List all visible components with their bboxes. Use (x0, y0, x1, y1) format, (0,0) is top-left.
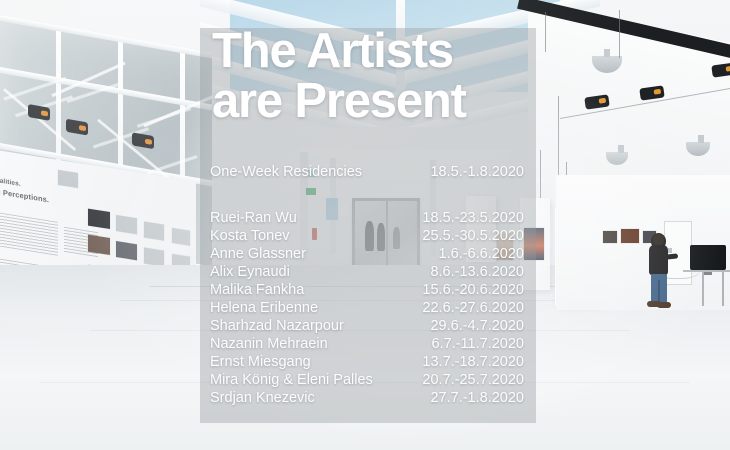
table-leg-2 (722, 272, 724, 306)
residency-date-range: 22.6.-27.6.2020 (422, 299, 524, 317)
residency-list-header: One-Week Residencies 18.5.-1.8.2020 (210, 163, 524, 181)
residency-artist-name: Anne Glassner (210, 245, 306, 263)
residency-row: Nazanin Mehraein6.7.-11.7.2020 (210, 335, 524, 353)
residency-artist-name: Sharhzad Nazarpour (210, 317, 344, 335)
residency-row: Anne Glassner1.6.-6.6.2020 (210, 245, 524, 263)
residency-row: Alix Eynaudi8.6.-13.6.2020 (210, 263, 524, 281)
residency-date-range: 18.5.-23.5.2020 (422, 209, 524, 227)
framed-photo-1 (603, 231, 617, 243)
residency-row: Malika Fankha15.6.-20.6.2020 (210, 281, 524, 299)
residency-row: Mira König & Eleni Palles20.7.-25.7.2020 (210, 371, 524, 389)
table-leg-1 (702, 272, 704, 306)
residency-list: One-Week Residencies 18.5.-1.8.2020 Ruei… (210, 163, 524, 407)
visitor-figure (642, 234, 682, 310)
spotlight-3 (711, 62, 730, 77)
residency-artist-name: Nazanin Mehraein (210, 335, 328, 353)
residency-artist-name: Ruei-Ran Wu (210, 209, 297, 227)
residency-artist-name: Helena Eribenne (210, 299, 318, 317)
residency-row: Sharhzad Nazarpour29.6.-4.7.2020 (210, 317, 524, 335)
residency-row: Ernst Miesgang13.7.-18.7.2020 (210, 353, 524, 371)
residency-date-range: 6.7.-11.7.2020 (432, 335, 524, 353)
residency-date-range: 8.6.-13.6.2020 (430, 263, 524, 281)
residency-artist-name: Ernst Miesgang (210, 353, 311, 371)
title-line-1: The Artists (212, 26, 542, 76)
residency-artist-name: Mira König & Eleni Palles (210, 371, 373, 389)
page-title: The Artists are Present (212, 26, 542, 126)
residency-date-range: 20.7.-25.7.2020 (422, 371, 524, 389)
framed-photo-2 (621, 229, 639, 243)
hanging-wire-2 (619, 10, 620, 58)
residency-header-dates: 18.5.-1.8.2020 (430, 163, 524, 181)
residency-row: Ruei-Ran Wu18.5.-23.5.2020 (210, 209, 524, 227)
residency-rows: Ruei-Ran Wu18.5.-23.5.2020Kosta Tonev25.… (210, 209, 524, 407)
residency-date-range: 15.6.-20.6.2020 (422, 281, 524, 299)
residency-artist-name: Srdjan Knezevic (210, 389, 315, 407)
title-line-2: are Present (212, 76, 542, 126)
residency-row: Srdjan Knezevic27.7.-1.8.2020 (210, 389, 524, 407)
residency-date-range: 25.5.-30.5.2020 (422, 227, 524, 245)
residency-artist-name: Alix Eynaudi (210, 263, 290, 281)
residency-row: Helena Eribenne22.6.-27.6.2020 (210, 299, 524, 317)
residency-header-label: One-Week Residencies (210, 163, 362, 181)
residency-date-range: 13.7.-18.7.2020 (422, 353, 524, 371)
residency-artist-name: Malika Fankha (210, 281, 304, 299)
residency-row: Kosta Tonev25.5.-30.5.2020 (210, 227, 524, 245)
hanging-wire-1 (558, 96, 559, 182)
residency-date-range: 1.6.-6.6.2020 (439, 245, 524, 263)
residency-artist-name: Kosta Tonev (210, 227, 290, 245)
hanging-wire-3 (545, 12, 546, 52)
residency-date-range: 29.6.-4.7.2020 (430, 317, 524, 335)
panel-wire-a (540, 150, 541, 202)
poster-root: ealities. g Perceptions. (0, 0, 730, 450)
residency-date-range: 27.7.-1.8.2020 (430, 389, 524, 407)
